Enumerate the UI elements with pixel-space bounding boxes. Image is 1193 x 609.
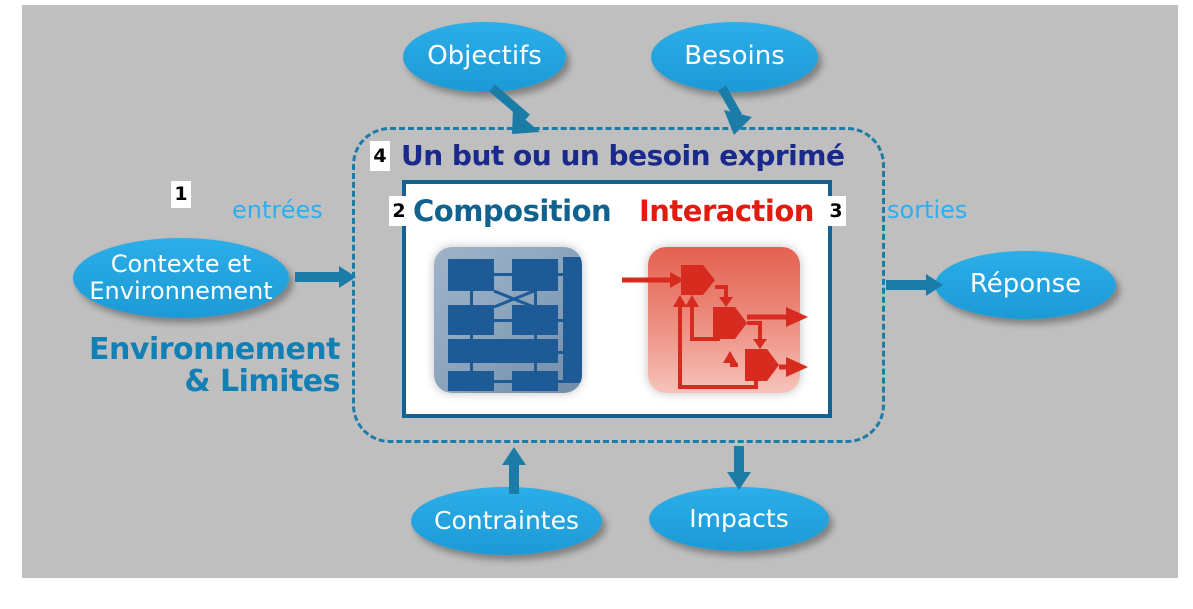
callout-badge-1: 1 <box>171 181 191 208</box>
environment-limits-line2: & Limites <box>84 366 340 398</box>
node-contexte-environnement[interactable]: Contexte et Environnement <box>73 238 289 318</box>
outputs-label: sorties <box>887 196 967 224</box>
composition-diagram-icon <box>434 247 582 393</box>
arrow-contexte-to-system-shaft <box>295 272 339 282</box>
callout-badge-2: 2 <box>389 196 409 226</box>
node-objectifs[interactable]: Objectifs <box>403 22 566 92</box>
arrow-system-to-reponse-head <box>926 274 943 296</box>
arrow-system-to-impacts-head <box>727 472 751 490</box>
diagram-canvas: Un but ou un besoin exprimé Composition … <box>0 0 1193 609</box>
arrow-contraintes-to-system-head <box>502 447 526 465</box>
interaction-diagram-icon <box>648 247 800 393</box>
environment-limits-line1: Environnement <box>84 334 340 366</box>
node-reponse[interactable]: Réponse <box>935 251 1116 319</box>
system-goal-title: Un but ou un besoin exprimé <box>401 139 844 172</box>
composition-cross-links <box>434 247 582 393</box>
arrow-contexte-to-system-head <box>339 266 356 288</box>
node-contraintes[interactable]: Contraintes <box>411 487 602 555</box>
interaction-flow-graphic <box>648 247 800 393</box>
composition-label: Composition <box>413 194 611 228</box>
node-impacts[interactable]: Impacts <box>649 487 829 551</box>
node-besoins[interactable]: Besoins <box>651 22 818 92</box>
node-contexte-line1: Contexte et <box>89 251 272 278</box>
interaction-label: Interaction <box>639 194 814 228</box>
inputs-label: entrées <box>232 196 323 224</box>
arrow-system-to-impacts-shaft <box>734 446 744 474</box>
environment-limits-label: Environnement & Limites <box>84 334 340 399</box>
arrow-system-to-reponse-shaft <box>886 280 926 290</box>
node-contexte-line2: Environnement <box>89 278 272 305</box>
callout-badge-3: 3 <box>826 196 846 226</box>
callout-badge-4: 4 <box>370 141 390 171</box>
arrow-contraintes-to-system-shaft <box>509 463 519 494</box>
